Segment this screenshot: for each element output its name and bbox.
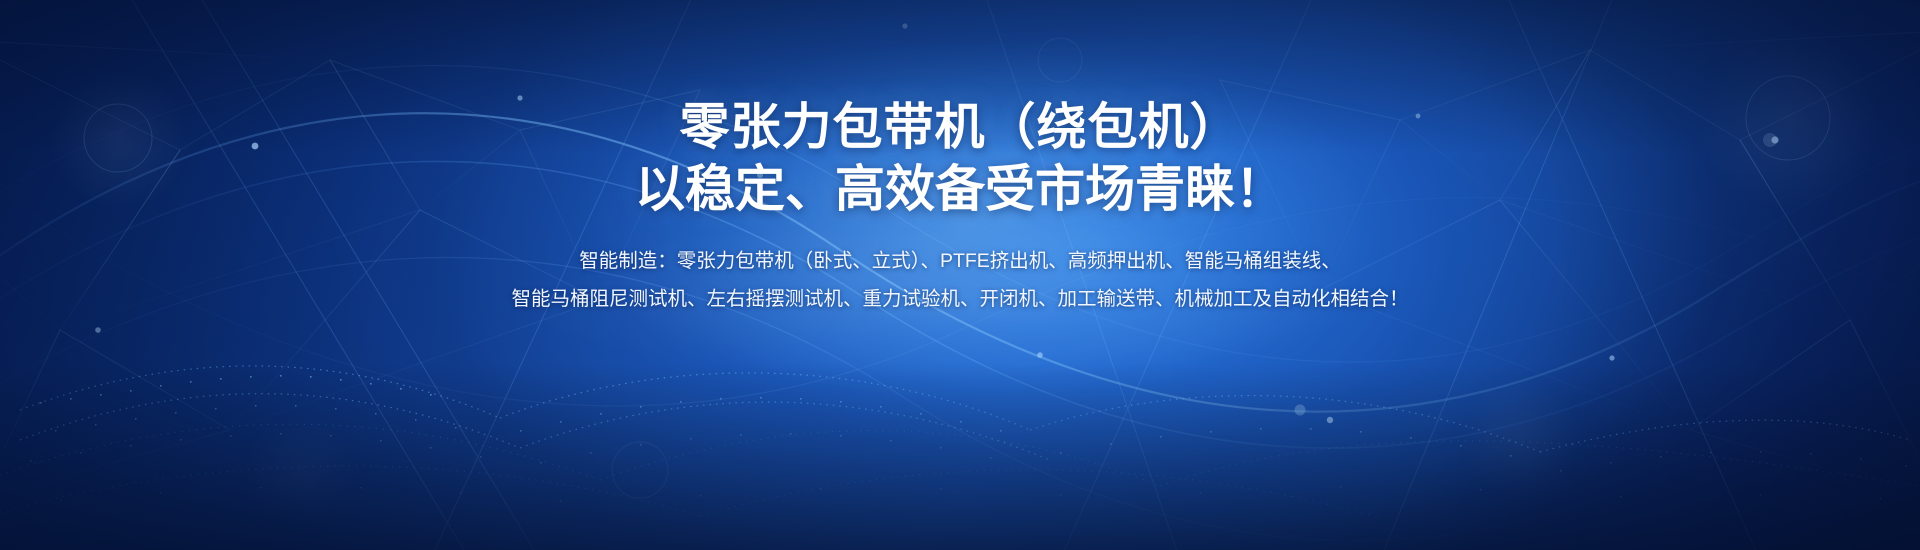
banner-headline: 零张力包带机（绕包机） 以稳定、高效备受市场青睐！ — [635, 96, 1285, 220]
subtitle-line-2: 智能马桶阻尼测试机、左右摇摆测试机、重力试验机、开闭机、加工输送带、机械加工及自… — [511, 280, 1408, 318]
subtitle-line-1: 智能制造：零张力包带机（卧式、立式）、PTFE挤出机、高频押出机、智能马桶组装线… — [511, 242, 1408, 280]
headline-line-1: 零张力包带机（绕包机） — [635, 96, 1285, 158]
banner-content: 零张力包带机（绕包机） 以稳定、高效备受市场青睐！ 智能制造：零张力包带机（卧式… — [0, 0, 1920, 550]
headline-line-2: 以稳定、高效备受市场青睐！ — [635, 158, 1285, 220]
hero-banner: 零张力包带机（绕包机） 以稳定、高效备受市场青睐！ 智能制造：零张力包带机（卧式… — [0, 0, 1920, 550]
banner-subtitle: 智能制造：零张力包带机（卧式、立式）、PTFE挤出机、高频押出机、智能马桶组装线… — [511, 242, 1408, 318]
